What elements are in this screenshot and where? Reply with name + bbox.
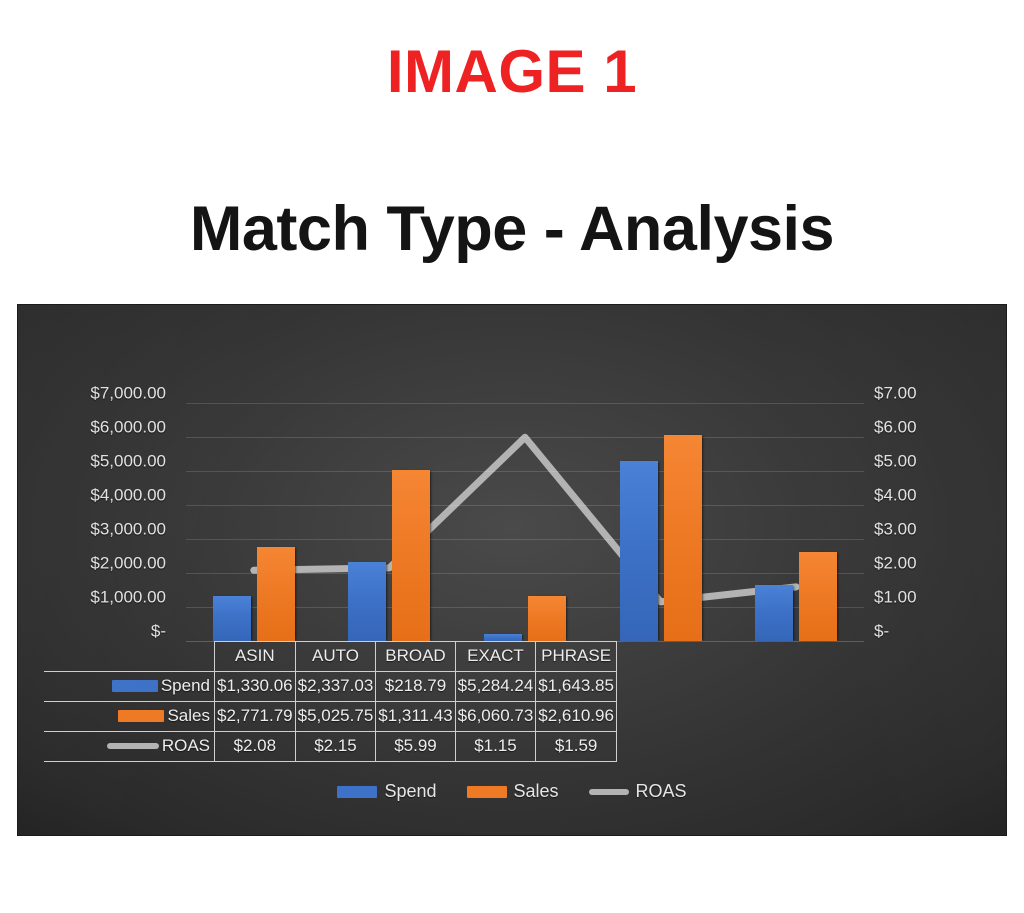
right-axis-tick: $3.00 <box>874 521 994 538</box>
right-axis-tick: $5.00 <box>874 453 994 470</box>
left-axis-tick: $5,000.00 <box>46 453 166 470</box>
table-column-header: AUTO <box>295 642 376 672</box>
table-corner-cell <box>44 642 215 672</box>
left-axis-tick: $7,000.00 <box>46 385 166 402</box>
table-cell: $218.79 <box>376 672 455 702</box>
left-value-axis: $7,000.00$6,000.00$5,000.00$4,000.00$3,0… <box>46 393 166 643</box>
table-cell: $5,025.75 <box>295 702 376 732</box>
left-axis-tick: $- <box>46 623 166 640</box>
table-header-row: ASINAUTOBROADEXACTPHRASE <box>44 642 616 672</box>
left-axis-tick: $6,000.00 <box>46 419 166 436</box>
table-row-label: Spend <box>161 676 210 696</box>
table-cell: $1,643.85 <box>536 672 617 702</box>
legend-label: Sales <box>514 781 559 802</box>
right-axis-tick: $7.00 <box>874 385 994 402</box>
table-row-key-spend: Spend <box>44 672 215 702</box>
left-axis-tick: $1,000.00 <box>46 589 166 606</box>
table-cell: $2.15 <box>295 732 376 762</box>
table-cell: $2,610.96 <box>536 702 617 732</box>
table-row-key-sales: Sales <box>44 702 215 732</box>
bar-sales-phrase[interactable] <box>799 552 837 641</box>
legend-label: ROAS <box>636 781 687 802</box>
table-row: Sales$2,771.79$5,025.75$1,311.43$6,060.7… <box>44 702 616 732</box>
bar-spend-broad[interactable] <box>484 634 522 641</box>
bar-spend-exact[interactable] <box>620 461 658 641</box>
table-row-label: Sales <box>167 706 210 726</box>
table-cell: $1,311.43 <box>376 702 455 732</box>
bar-sales-exact[interactable] <box>664 435 702 641</box>
bar-group-exact <box>593 403 729 641</box>
legend-item-spend[interactable]: Spend <box>337 781 436 802</box>
table-column-header: ASIN <box>215 642 296 672</box>
table-column-header: BROAD <box>376 642 455 672</box>
table-row-key-roas: ROAS <box>44 732 215 762</box>
bar-group-auto <box>322 403 458 641</box>
bar-sales-broad[interactable] <box>528 596 566 641</box>
legend-item-sales[interactable]: Sales <box>467 781 559 802</box>
right-axis-tick: $- <box>874 623 994 640</box>
chart-heading: Match Type - Analysis <box>0 198 1024 261</box>
table-row: Spend$1,330.06$2,337.03$218.79$5,284.24$… <box>44 672 616 702</box>
bar-swatch-icon <box>112 680 158 692</box>
bar-spend-phrase[interactable] <box>755 585 793 641</box>
left-axis-tick: $3,000.00 <box>46 521 166 538</box>
legend-bar-icon <box>467 786 507 798</box>
legend-line-icon <box>589 789 629 795</box>
bar-group-asin <box>186 403 322 641</box>
left-axis-tick: $4,000.00 <box>46 487 166 504</box>
table-cell: $5,284.24 <box>455 672 536 702</box>
bar-spend-auto[interactable] <box>348 562 386 641</box>
bar-sales-asin[interactable] <box>257 547 295 641</box>
chart-panel: $7,000.00$6,000.00$5,000.00$4,000.00$3,0… <box>18 305 1006 835</box>
table-body: Spend$1,330.06$2,337.03$218.79$5,284.24$… <box>44 672 616 762</box>
legend-item-roas[interactable]: ROAS <box>589 781 687 802</box>
right-axis-tick: $6.00 <box>874 419 994 436</box>
table-cell: $1.59 <box>536 732 617 762</box>
right-axis-tick: $2.00 <box>874 555 994 572</box>
bar-spend-asin[interactable] <box>213 596 251 641</box>
bar-sales-auto[interactable] <box>392 470 430 641</box>
legend-label: Spend <box>384 781 436 802</box>
table-cell: $2.08 <box>215 732 296 762</box>
chart-legend: SpendSalesROAS <box>18 781 1006 802</box>
table-cell: $1,330.06 <box>215 672 296 702</box>
table-column-header: PHRASE <box>536 642 617 672</box>
right-value-axis: $7.00$6.00$5.00$4.00$3.00$2.00$1.00$- <box>874 393 994 643</box>
table-cell: $2,337.03 <box>295 672 376 702</box>
line-swatch-icon <box>107 743 159 749</box>
legend-bar-icon <box>337 786 377 798</box>
table-row-label: ROAS <box>162 736 210 756</box>
bar-group-phrase <box>728 403 864 641</box>
table-row: ROAS$2.08$2.15$5.99$1.15$1.59 <box>44 732 616 762</box>
chart-data-table: ASINAUTOBROADEXACTPHRASE Spend$1,330.06$… <box>44 641 617 762</box>
bar-group-broad <box>457 403 593 641</box>
left-axis-tick: $2,000.00 <box>46 555 166 572</box>
right-axis-tick: $4.00 <box>874 487 994 504</box>
table-cell: $6,060.73 <box>455 702 536 732</box>
table-cell: $2,771.79 <box>215 702 296 732</box>
plot-area <box>186 403 864 641</box>
page-title: IMAGE 1 <box>0 42 1024 102</box>
bar-swatch-icon <box>118 710 164 722</box>
right-axis-tick: $1.00 <box>874 589 994 606</box>
table-cell: $1.15 <box>455 732 536 762</box>
table-cell: $5.99 <box>376 732 455 762</box>
table-column-header: EXACT <box>455 642 536 672</box>
